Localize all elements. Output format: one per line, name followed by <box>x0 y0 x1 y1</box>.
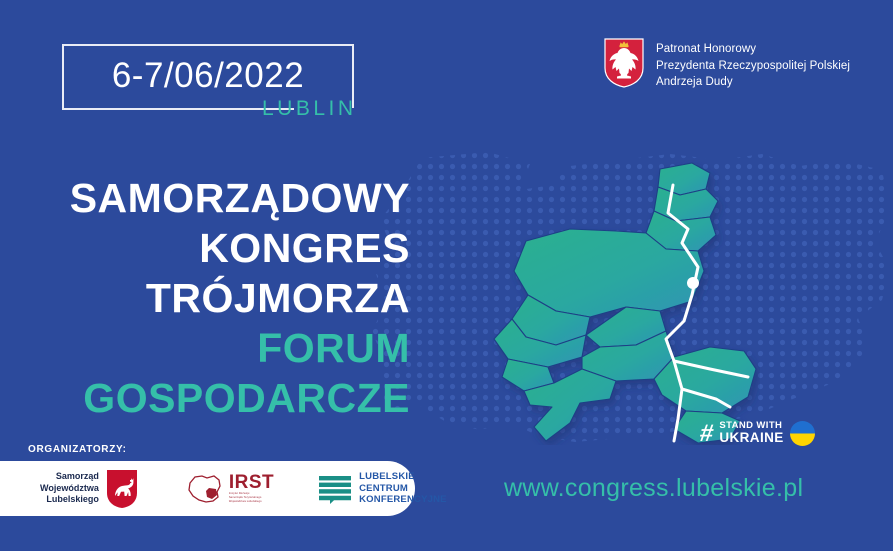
patronage-line-1: Patronat Honorowy <box>656 41 850 58</box>
irst-text: IRST Instytut Rozwoju Samorządu Terytori… <box>229 473 274 504</box>
lck-line-2: CENTRUM <box>359 483 447 495</box>
poland-outline-icon <box>186 472 224 506</box>
stand-with-ukraine-badge: # STAND WITH UKRAINE <box>700 421 815 446</box>
swl-line-1: Samorząd <box>40 471 99 483</box>
three-seas-countries-map <box>430 155 760 445</box>
logo-lubelskie-centrum-konferencyjne[interactable]: LUBELSKIE CENTRUM KONFERENCYJNE <box>318 471 447 507</box>
patronage-text: Patronat Honorowy Prezydenta Rzeczypospo… <box>656 38 850 91</box>
lck-line-3: KONFERENCYJNE <box>359 494 447 506</box>
polish-coat-of-arms-icon <box>604 38 644 88</box>
ukraine-flag-circle-icon <box>790 421 815 446</box>
city-label: LUBLIN <box>262 97 357 121</box>
stand-with-ukraine-text: STAND WITH UKRAINE <box>719 421 783 445</box>
irst-sub-3: Województwa Lubelskiego <box>229 500 274 504</box>
headline-line-5: GOSPODARCZE <box>0 378 410 419</box>
headline-line-1: SAMORZĄDOWY <box>0 178 410 219</box>
website-url[interactable]: www.congress.lubelskie.pl <box>504 474 803 503</box>
swl-line-2: Województwa <box>40 483 99 495</box>
hash-icon: # <box>698 422 715 446</box>
headline-line-2: KONGRES <box>0 228 410 269</box>
swl-line-3: Lubelskiego <box>40 494 99 506</box>
lck-text: LUBELSKIE CENTRUM KONFERENCYJNE <box>359 471 447 507</box>
lck-line-1: LUBELSKIE <box>359 471 447 483</box>
logo-samorzad-wojewodztwa-lubelskiego[interactable]: Samorząd Województwa Lubelskiego <box>40 469 138 509</box>
lublin-marker-dot <box>687 277 699 289</box>
speech-bubble-bars-icon <box>318 474 352 504</box>
patronage-line-2: Prezydenta Rzeczypospolitej Polskiej <box>656 58 850 75</box>
swl-text: Samorząd Województwa Lubelskiego <box>40 471 99 506</box>
honorary-patronage: Patronat Honorowy Prezydenta Rzeczypospo… <box>604 38 850 91</box>
headline-line-4: FORUM <box>0 328 410 369</box>
logo-irst[interactable]: IRST Instytut Rozwoju Samorządu Terytori… <box>186 472 274 506</box>
organizers-label: ORGANIZATORZY: <box>28 444 127 455</box>
patronage-line-3: Andrzeja Dudy <box>656 74 850 91</box>
ukraine-line-2: UKRAINE <box>719 431 783 445</box>
poster-canvas: 6-7/06/2022 LUBLIN Patronat Honorowy Pre… <box>0 0 893 551</box>
page-title: SAMORZĄDOWY KONGRES TRÓJMORZA FORUM GOSP… <box>0 178 410 428</box>
headline-line-3: TRÓJMORZA <box>0 278 410 319</box>
irst-wordmark: IRST <box>229 473 274 492</box>
organizers-bar: Samorząd Województwa Lubelskiego IRST In… <box>0 461 415 516</box>
lublin-voivodeship-deer-crest-icon <box>106 469 138 509</box>
